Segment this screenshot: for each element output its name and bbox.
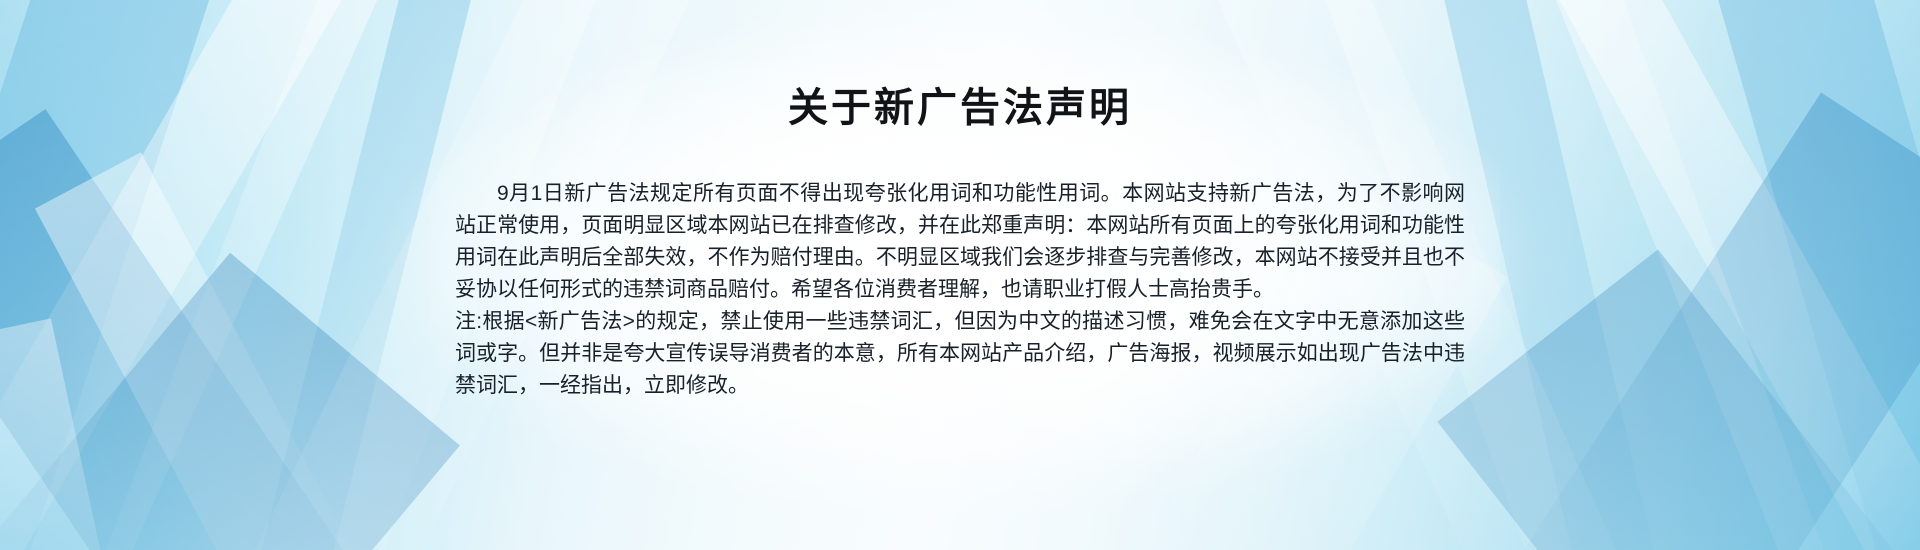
statement-paragraph-main: 9月1日新广告法规定所有页面不得出现夸张化用词和功能性用词。本网站支持新广告法，… (455, 178, 1465, 306)
statement-content: 关于新广告法声明 9月1日新广告法规定所有页面不得出现夸张化用词和功能性用词。本… (0, 0, 1920, 550)
statement-text-block: 9月1日新广告法规定所有页面不得出现夸张化用词和功能性用词。本网站支持新广告法，… (455, 178, 1465, 402)
page-title: 关于新广告法声明 (0, 85, 1920, 131)
statement-paragraph-note: 注:根据<新广告法>的规定，禁止使用一些违禁词汇，但因为中文的描述习惯，难免会在… (455, 306, 1465, 402)
advertising-law-statement-banner: 关于新广告法声明 9月1日新广告法规定所有页面不得出现夸张化用词和功能性用词。本… (0, 0, 1920, 550)
